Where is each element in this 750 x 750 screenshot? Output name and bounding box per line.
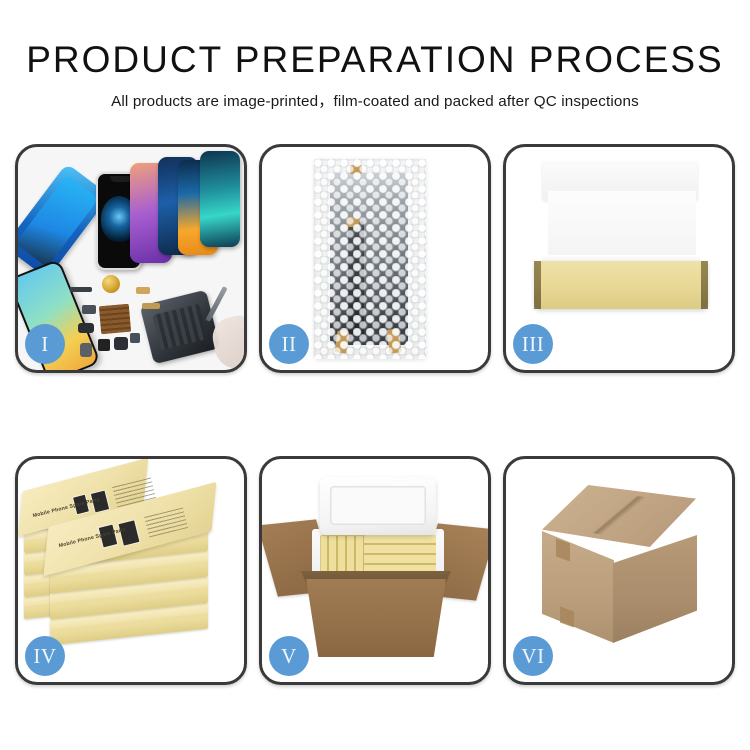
yellow-boxes-column-icon bbox=[364, 535, 436, 573]
page-title: PRODUCT PREPARATION PROCESS bbox=[0, 38, 750, 82]
process-step-panel-3[interactable]: III bbox=[503, 144, 735, 373]
process-step-panel-6[interactable]: VI bbox=[503, 456, 735, 685]
part-gold-bracket-icon bbox=[142, 303, 160, 309]
process-step-panel-4[interactable]: Mobile Phone Spare Parts Mobile Phone Sp… bbox=[15, 456, 247, 685]
part-connector-icon bbox=[70, 287, 92, 292]
step-badge-3: III bbox=[513, 324, 553, 364]
part-chip-icon bbox=[98, 339, 110, 351]
process-step-panel-2[interactable]: II bbox=[259, 144, 491, 373]
process-step-panel-1[interactable]: I bbox=[15, 144, 247, 373]
step-badge-6: VI bbox=[513, 636, 553, 676]
step-badge-1: I bbox=[25, 324, 65, 364]
step-badge-5: V bbox=[269, 636, 309, 676]
phone-teal-icon bbox=[200, 151, 240, 247]
part-ribbon-icon bbox=[82, 305, 96, 314]
bubble-wrap-bag-icon bbox=[314, 159, 426, 359]
part-camera-icon bbox=[80, 343, 92, 357]
step-badge-2: II bbox=[269, 324, 309, 364]
process-step-panel-5[interactable]: V bbox=[259, 456, 491, 685]
part-sensor-icon bbox=[130, 333, 140, 343]
bubble-texture-icon bbox=[314, 159, 426, 359]
phone-backplate-icon bbox=[140, 290, 220, 365]
hand-icon bbox=[209, 313, 244, 370]
foam-lid-icon bbox=[320, 477, 436, 535]
part-battery-icon bbox=[114, 337, 128, 350]
part-gold-flex-icon bbox=[136, 287, 150, 294]
speaker-coil-icon bbox=[102, 275, 120, 293]
carton-left-face-icon bbox=[542, 531, 614, 643]
carton-right-face-icon bbox=[613, 535, 697, 643]
kraft-box-front-icon bbox=[534, 261, 708, 309]
carton-body-icon bbox=[300, 579, 452, 657]
header: PRODUCT PREPARATION PROCESS All products… bbox=[0, 0, 750, 111]
part-module-icon bbox=[78, 323, 94, 333]
step-badge-4: IV bbox=[25, 636, 65, 676]
process-step-grid: I II bbox=[15, 144, 735, 685]
page-subtitle: All products are image-printed，film-coat… bbox=[0, 89, 750, 111]
screw-grid-icon bbox=[99, 304, 131, 335]
product-preparation-infographic: PRODUCT PREPARATION PROCESS All products… bbox=[0, 0, 750, 750]
